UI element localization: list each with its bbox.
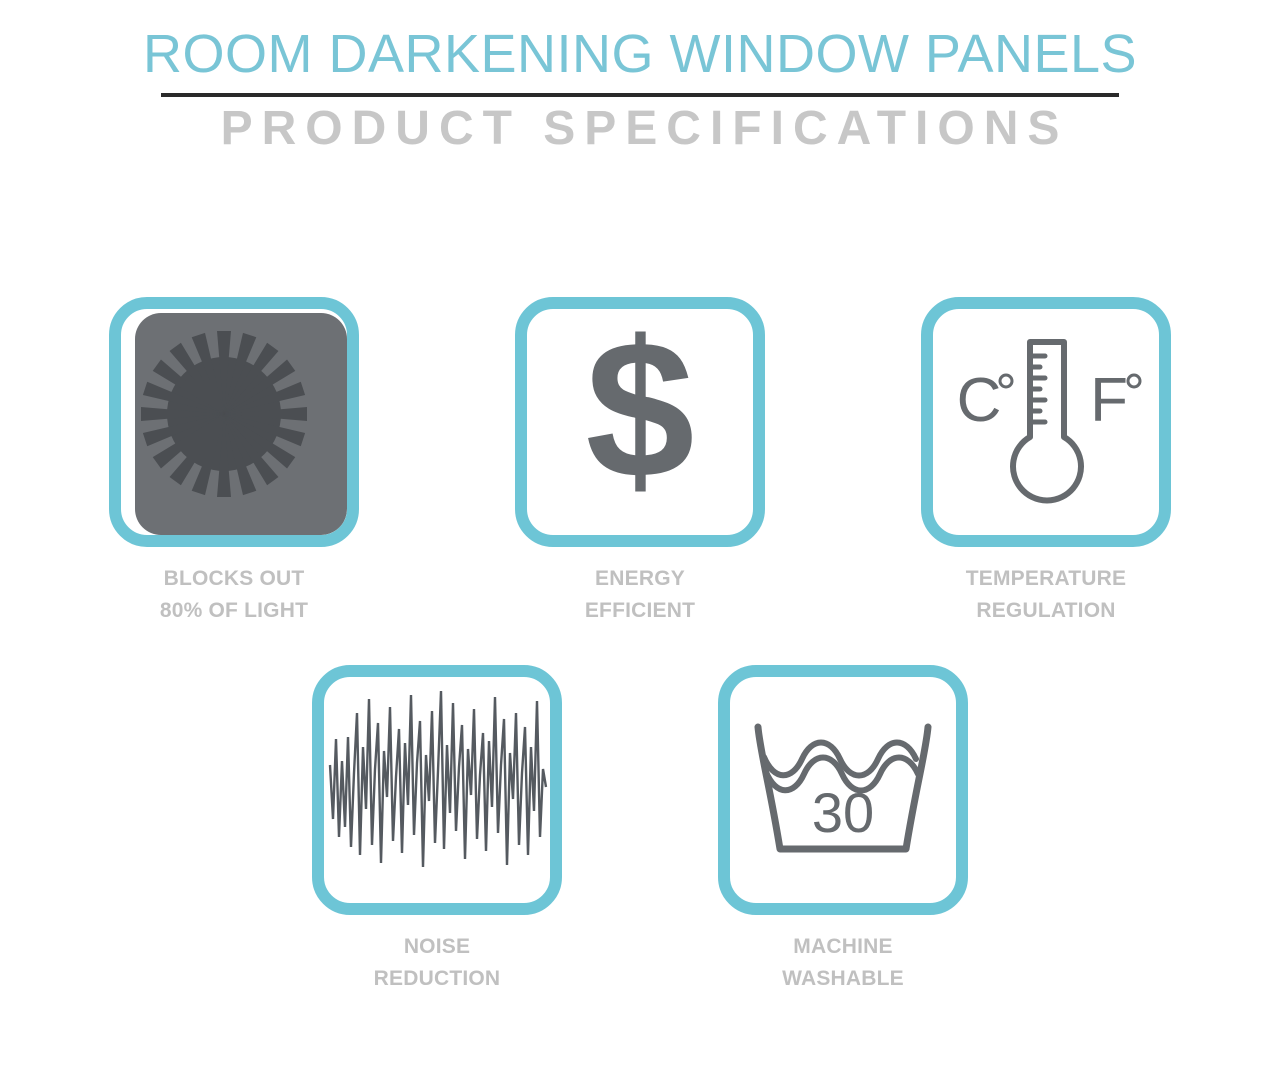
caption-line-1: NOISE <box>374 931 501 963</box>
celsius-degree-icon <box>1000 375 1012 387</box>
feature-card-blocks-out-light[interactable]: BLOCKS OUT 80% OF LIGHT <box>104 297 364 627</box>
dark-sun-icon <box>121 309 347 535</box>
caption-line-1: BLOCKS OUT <box>160 563 308 595</box>
caption-line-1: TEMPERATURE <box>966 563 1126 595</box>
page-subtitle: PRODUCT SPECIFICATIONS <box>0 103 1280 156</box>
feature-caption-noise-reduction: NOISE REDUCTION <box>374 931 501 995</box>
icon-box-noise-reduction <box>312 665 562 915</box>
fahrenheit-label: F <box>1090 366 1128 435</box>
feature-row-top: BLOCKS OUT 80% OF LIGHT $ ENERGY EFFICIE… <box>0 297 1280 627</box>
icon-box-machine-washable: 30 <box>718 665 968 915</box>
feature-card-temperature-regulation[interactable]: C F TEMPERATURE REGULATION <box>916 297 1176 627</box>
feature-caption-blocks-out-light: BLOCKS OUT 80% OF LIGHT <box>160 563 308 627</box>
feature-card-noise-reduction[interactable]: NOISE REDUCTION <box>307 665 567 995</box>
thermometer-icon: C F <box>933 309 1159 535</box>
dollar-sign-icon: $ <box>527 309 753 535</box>
feature-caption-machine-washable: MACHINE WASHABLE <box>782 931 904 995</box>
caption-line-2: EFFICIENT <box>585 595 695 627</box>
caption-line-2: REGULATION <box>966 595 1126 627</box>
page-title: ROOM DARKENING WINDOW PANELS <box>0 26 1280 83</box>
icon-box-temperature-regulation: C F <box>921 297 1171 547</box>
feature-row-bottom: NOISE REDUCTION 30 MACHINE WASHABLE <box>0 665 1280 995</box>
caption-line-1: MACHINE <box>782 931 904 963</box>
celsius-label: C <box>957 366 1002 435</box>
caption-line-1: ENERGY <box>585 563 695 595</box>
wash-temperature-label: 30 <box>812 781 874 844</box>
dollar-glyph: $ <box>585 309 694 519</box>
caption-line-2: WASHABLE <box>782 963 904 995</box>
icon-box-energy-efficient: $ <box>515 297 765 547</box>
page-header: ROOM DARKENING WINDOW PANELS PRODUCT SPE… <box>0 0 1280 155</box>
caption-line-2: 80% OF LIGHT <box>160 595 308 627</box>
feature-card-energy-efficient[interactable]: $ ENERGY EFFICIENT <box>510 297 770 627</box>
icon-box-blocks-out-light <box>109 297 359 547</box>
wash-basin-icon: 30 <box>730 677 956 903</box>
fahrenheit-degree-icon <box>1128 375 1140 387</box>
feature-caption-energy-efficient: ENERGY EFFICIENT <box>585 563 695 627</box>
header-divider-wrap <box>0 83 1280 103</box>
feature-card-machine-washable[interactable]: 30 MACHINE WASHABLE <box>713 665 973 995</box>
sound-waveform-icon <box>324 677 550 903</box>
caption-line-2: REDUCTION <box>374 963 501 995</box>
feature-caption-temperature-regulation: TEMPERATURE REGULATION <box>966 563 1126 627</box>
header-divider <box>161 93 1119 97</box>
